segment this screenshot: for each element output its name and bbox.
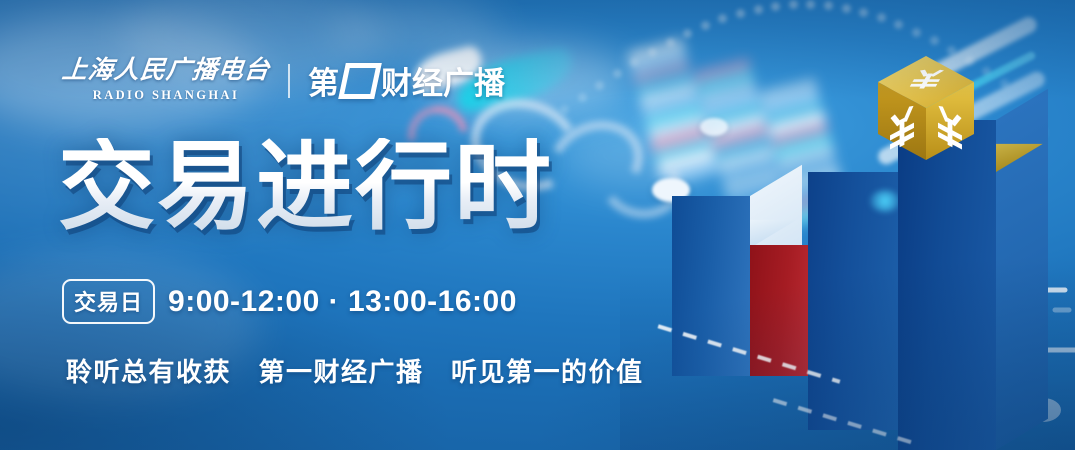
logo-lockup: 上海人民广播电台 RADIO SHANGHAI 第 财经广播 [62,58,505,103]
channel-label-prefix: 第 [308,58,339,103]
channel-logo: 第 财经广播 [308,58,505,103]
square-one-mark-icon [338,63,382,99]
station-name-en: RADIO SHANGHAI [93,88,239,103]
tagline: 聆听总有收获 第一财经广播 听见第一的价值 [66,352,644,389]
trading-day-badge: 交易日 [62,279,155,324]
schedule-row: 交易日 9:00-12:00 · 13:00-16:00 [62,279,517,324]
broadcast-hours: 9:00-12:00 · 13:00-16:00 [168,285,517,319]
banner-content: 上海人民广播电台 RADIO SHANGHAI 第 财经广播 交易进行时 交易日… [0,0,1075,450]
radio-shanghai-logo: 上海人民广播电台 RADIO SHANGHAI [62,58,270,102]
logo-divider [288,64,290,98]
station-name-cn: 上海人民广播电台 [61,58,272,84]
radio-program-banner: 上海人民广播电台 RADIO SHANGHAI 第 财经广播 交易进行时 交易日… [0,0,1075,450]
page-title: 交易进行时 [58,138,553,235]
channel-label-suffix: 财经广播 [381,58,505,103]
